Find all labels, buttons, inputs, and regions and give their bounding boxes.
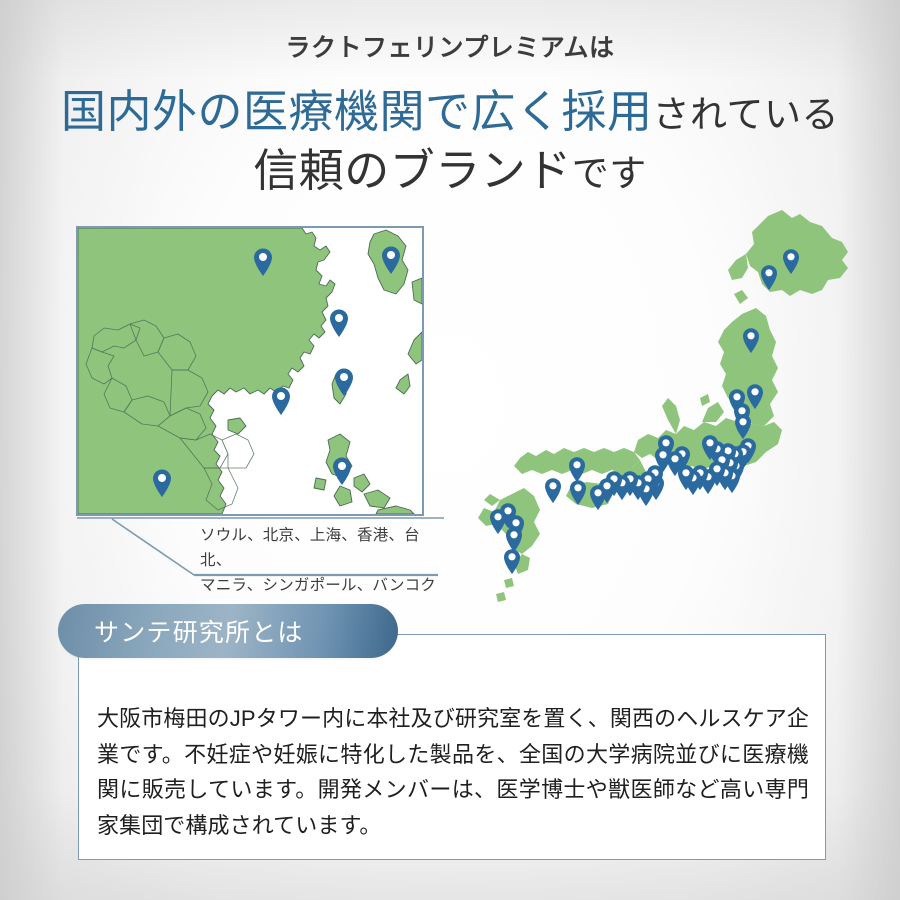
headline-line-2-tail: です [572, 153, 647, 194]
section-ribbon-label: サンテ研究所とは [94, 613, 304, 649]
asia-map-caption-text: ソウル、北京、上海、香港、台北、 マニラ、シンガポール、バンコク [200, 523, 450, 598]
headline-line-1-tail: されている [653, 94, 839, 135]
caption-line-1: ソウル、北京、上海、香港、台北、 [200, 523, 450, 573]
headline-line-2: 信頼のブランドです [0, 141, 900, 200]
headline-brand-phrase: 信頼のブランド [253, 145, 572, 196]
section-ribbon: サンテ研究所とは [58, 604, 398, 658]
asia-map-svg [78, 228, 422, 514]
headline-line-1: 国内外の医療機関で広く採用されている [0, 82, 900, 141]
company-info-panel: 大阪市梅田のJPタワー内に本社及び研究室を置く、関西のヘルスケア企業です。不妊症… [78, 634, 826, 860]
japan-map [470, 208, 870, 608]
caption-line-2: マニラ、シンガポール、バンコク [200, 573, 450, 598]
company-info-body: 大阪市梅田のJPタワー内に本社及び研究室を置く、関西のヘルスケア企業です。不妊症… [97, 701, 809, 844]
infographic-page: ラクトフェリンプレミアムは 国内外の医療機関で広く採用されている 信頼のブランド… [0, 0, 900, 900]
japan-map-svg [470, 208, 870, 608]
asia-map-inset [76, 226, 424, 516]
page-headline: 国内外の医療機関で広く採用されている 信頼のブランドです [0, 82, 900, 201]
asia-map-caption: ソウル、北京、上海、香港、台北、 マニラ、シンガポール、バンコク [76, 517, 446, 589]
headline-highlight-blue: 国内外の医療機関で広く採用 [61, 86, 653, 137]
eyebrow-text: ラクトフェリンプレミアムは [0, 28, 900, 64]
